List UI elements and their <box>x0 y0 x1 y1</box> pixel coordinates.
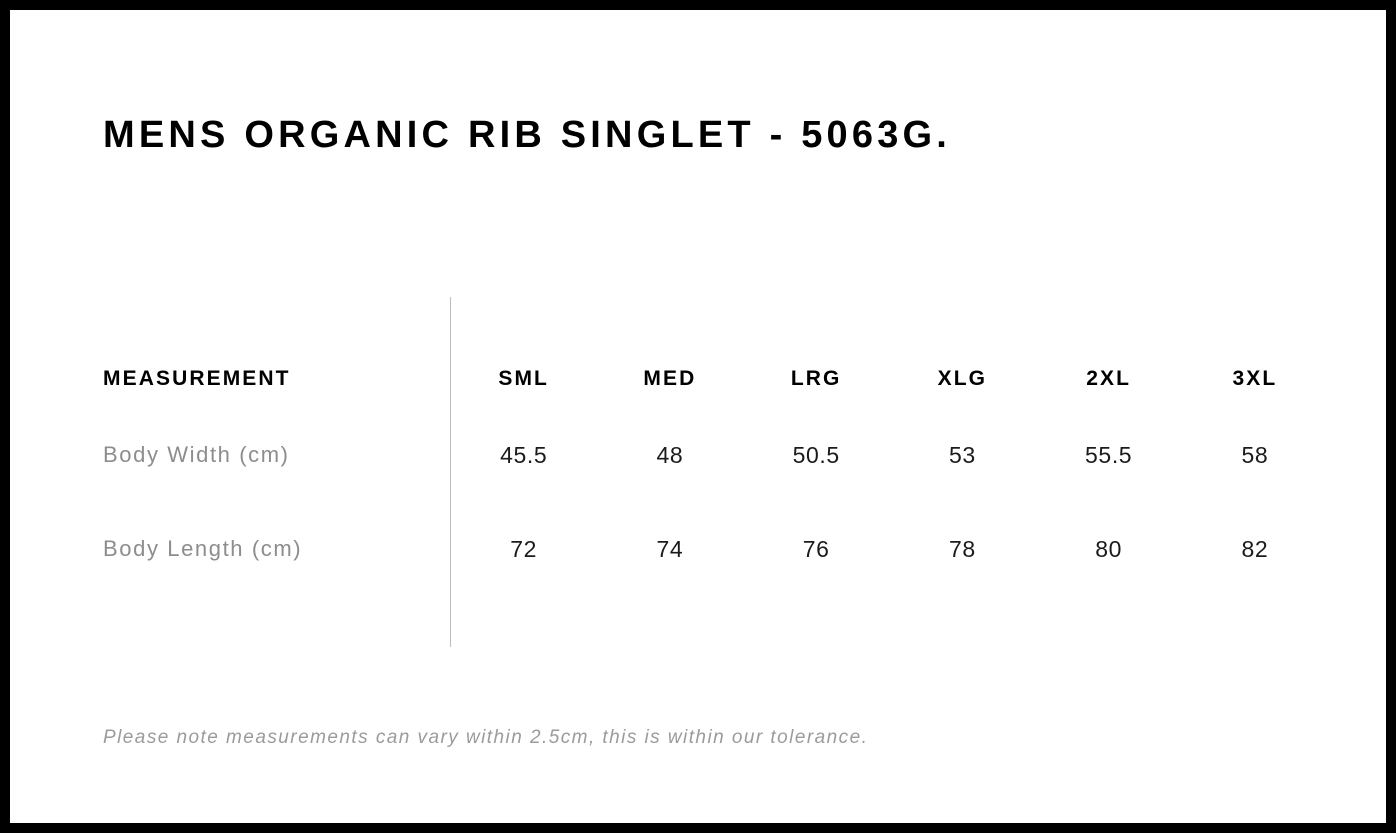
cell-body-width-lrg: 50.5 <box>743 408 889 502</box>
cell-body-length-3xl: 82 <box>1182 502 1328 596</box>
cell-body-width-3xl: 58 <box>1182 408 1328 502</box>
column-header-med: MED <box>597 350 743 408</box>
table-header-row: MEASUREMENT SML MED LRG XLG 2XL 3XL <box>103 350 1328 408</box>
cell-body-length-med: 74 <box>597 502 743 596</box>
column-header-3xl: 3XL <box>1182 350 1328 408</box>
cell-body-length-lrg: 76 <box>743 502 889 596</box>
size-chart-card: MENS ORGANIC RIB SINGLET - 5063G. MEASUR… <box>10 10 1386 823</box>
cell-body-length-sml: 72 <box>451 502 597 596</box>
tolerance-note: Please note measurements can vary within… <box>103 728 868 747</box>
column-header-measurement: MEASUREMENT <box>103 350 451 408</box>
table-row: Body Width (cm) 45.5 48 50.5 53 55.5 58 <box>103 408 1328 502</box>
column-header-sml: SML <box>451 350 597 408</box>
column-header-lrg: LRG <box>743 350 889 408</box>
cell-body-width-2xl: 55.5 <box>1036 408 1182 502</box>
row-label-body-width: Body Width (cm) <box>103 408 451 502</box>
row-label-body-length: Body Length (cm) <box>103 502 451 596</box>
size-chart-table: MEASUREMENT SML MED LRG XLG 2XL 3XL Body… <box>103 350 1328 596</box>
cell-body-length-2xl: 80 <box>1036 502 1182 596</box>
table-row: Body Length (cm) 72 74 76 78 80 82 <box>103 502 1328 596</box>
cell-body-width-xlg: 53 <box>889 408 1035 502</box>
cell-body-width-med: 48 <box>597 408 743 502</box>
cell-body-width-sml: 45.5 <box>451 408 597 502</box>
cell-body-length-xlg: 78 <box>889 502 1035 596</box>
page-title: MENS ORGANIC RIB SINGLET - 5063G. <box>103 116 951 154</box>
column-header-2xl: 2XL <box>1036 350 1182 408</box>
column-header-xlg: XLG <box>889 350 1035 408</box>
